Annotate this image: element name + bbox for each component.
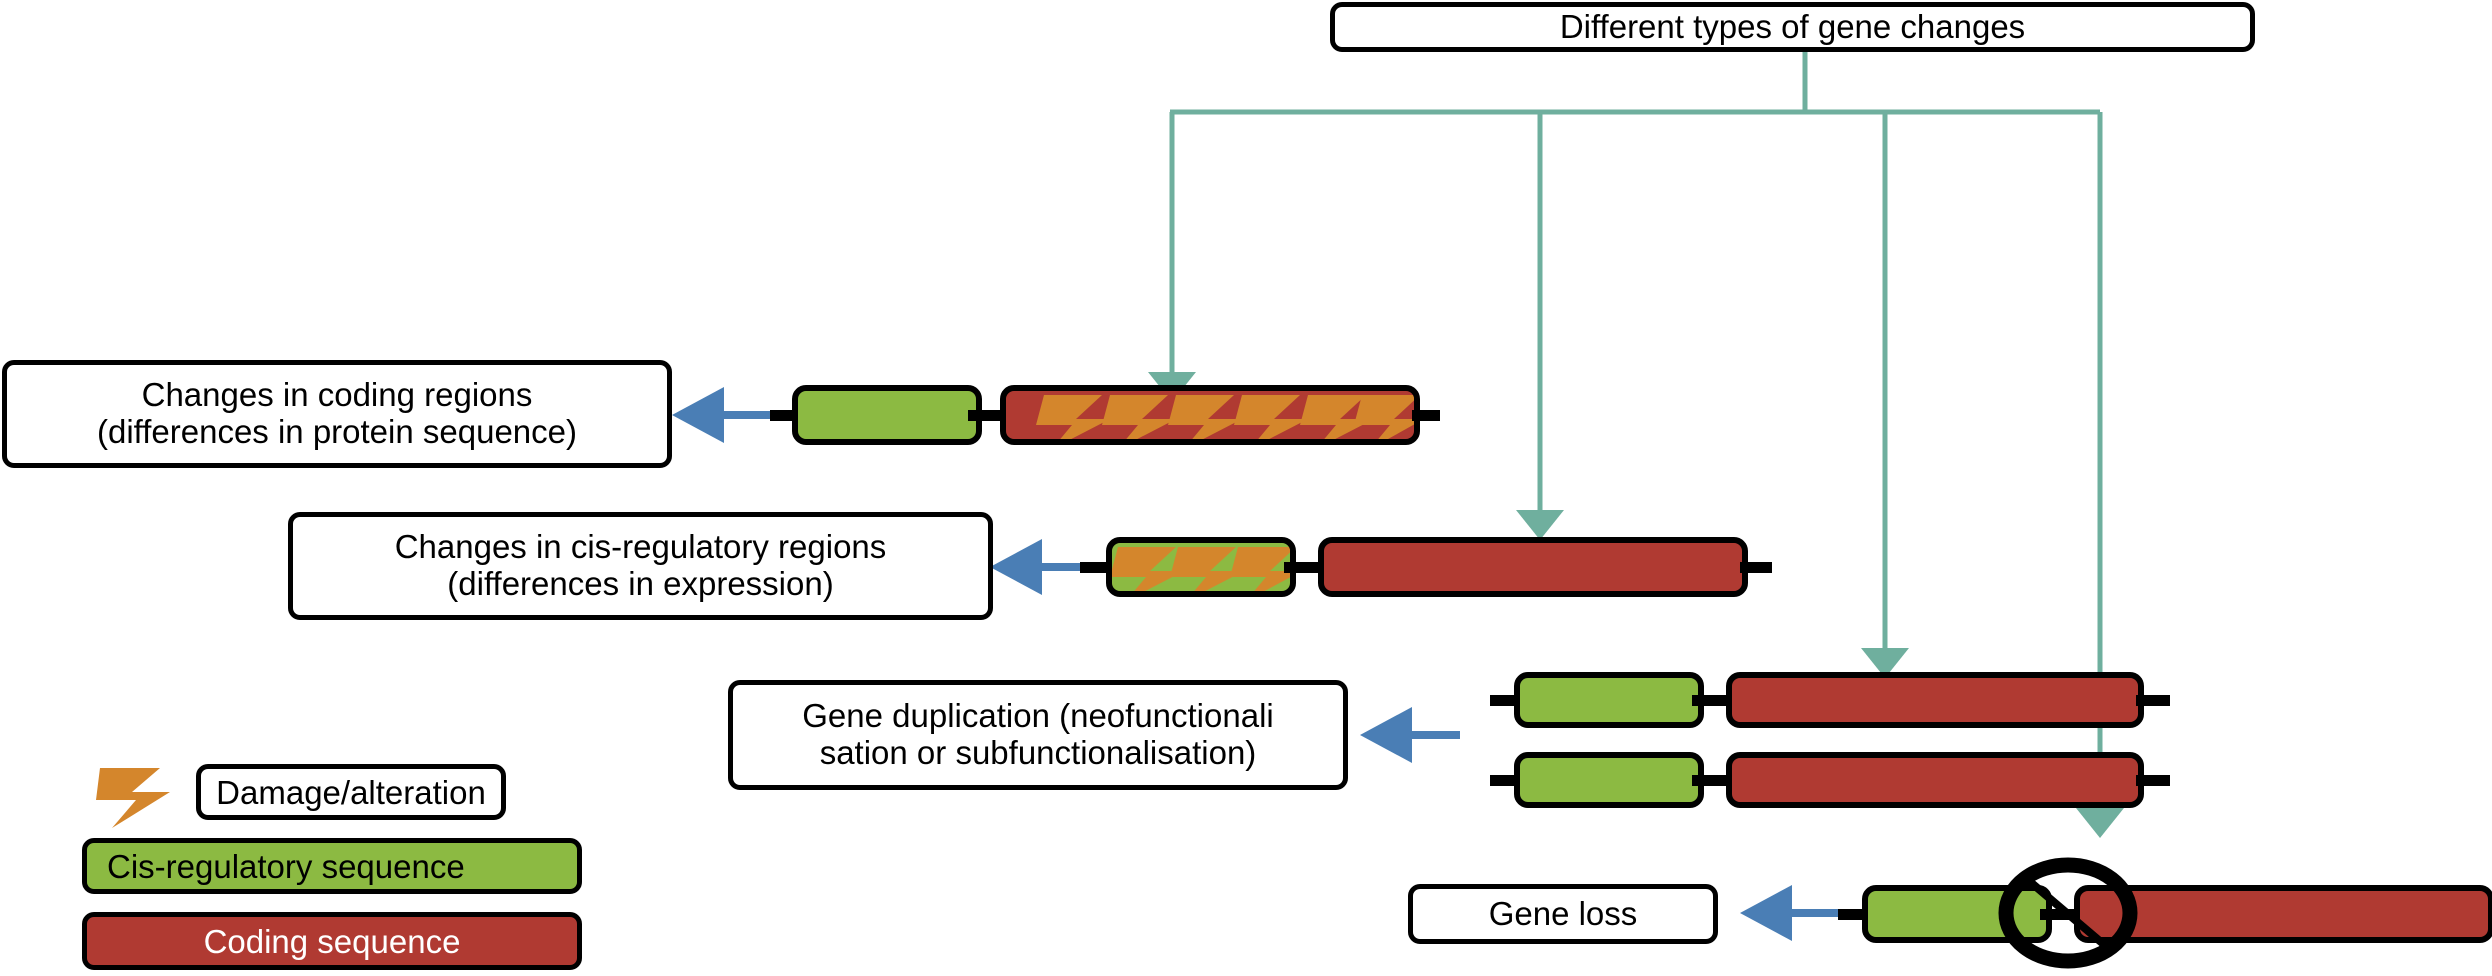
segment-cis-regulatory[interactable] [792,385,982,445]
gene-loss [1838,885,2492,943]
gene-flank-right [2136,695,2170,706]
gene-flank-right [1740,562,1772,573]
segment-coding[interactable] [2074,885,2492,943]
segment-coding[interactable] [1726,672,2144,728]
segment-coding[interactable] [1318,537,1748,597]
damage-bolts-coding [1006,391,1420,445]
gene-duplication-copy-1 [1490,672,2190,728]
segment-cis-regulatory[interactable] [1514,672,1704,728]
segment-coding[interactable] [1726,752,2144,808]
label-gene-loss[interactable]: Gene loss [1408,884,1718,944]
segment-cis-regulatory[interactable] [1862,885,2052,943]
label-arrows [0,0,2492,976]
legend-label-cis-regulatory: Cis-regulatory sequence [107,850,465,883]
segment-coding[interactable] [1000,385,1420,445]
legend-item-damage[interactable]: Damage/alteration [196,764,506,820]
gene-loss-prohibition-icon [0,0,2492,976]
damage-bolts-cis-regulatory [1112,543,1296,597]
label-coding-changes[interactable]: Changes in coding regions (differences i… [2,360,672,468]
legend-label-damage: Damage/alteration [216,776,486,809]
tree-connectors [0,0,2492,976]
legend-lightning-bolt-icon [0,0,2492,976]
gene-flank-right [1412,410,1440,421]
diagram-title: Different types of gene changes [1330,2,2255,52]
gene-coding-changes [770,385,1440,445]
gene-cis-regulatory-changes [1080,537,1780,597]
legend-label-coding: Coding sequence [204,925,461,958]
legend-item-cis-regulatory[interactable]: Cis-regulatory sequence [82,838,582,894]
legend-item-coding[interactable]: Coding sequence [82,912,582,970]
label-cis-regulatory-changes[interactable]: Changes in cis-regulatory regions (diffe… [288,512,993,620]
diagram-canvas: Different types of gene changes Changes … [0,0,2492,976]
segment-cis-regulatory[interactable] [1514,752,1704,808]
gene-flank-right [2136,775,2170,786]
segment-cis-regulatory[interactable] [1106,537,1296,597]
gene-duplication-copy-2 [1490,752,2190,808]
label-gene-duplication[interactable]: Gene duplication (neofunctionali sation … [728,680,1348,790]
